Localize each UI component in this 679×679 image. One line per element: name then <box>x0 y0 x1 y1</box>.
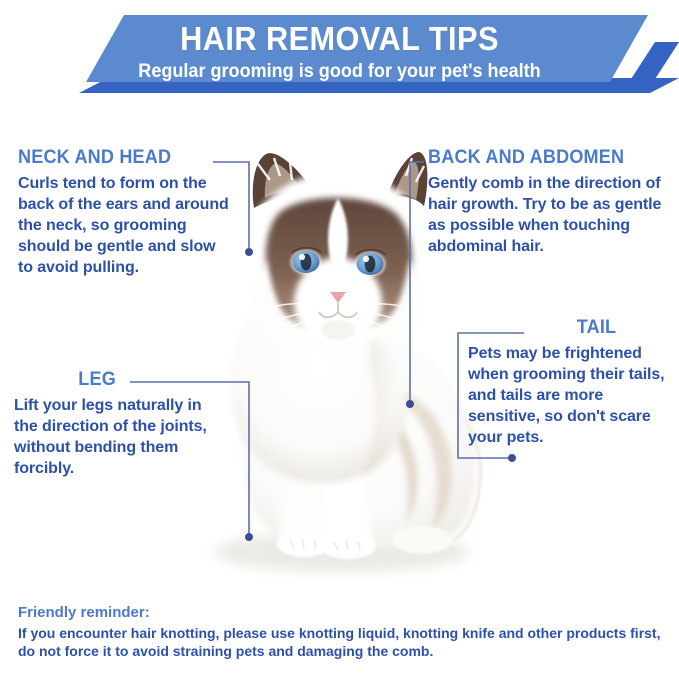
section-back-and-abdomen-heading: BACK AND ABDOMEN <box>428 148 666 167</box>
section-neck-and-head: NECK AND HEAD Curls tend to form on the … <box>18 148 233 279</box>
footer-body: If you encounter hair knotting, please u… <box>18 624 663 661</box>
header-banner: HAIR REMOVAL TIPS Regular grooming is go… <box>0 0 679 100</box>
section-tail-heading: TAIL <box>530 318 663 337</box>
cat-head <box>242 152 434 346</box>
section-back-and-abdomen-body: Gently comb in the direction of hair gro… <box>428 173 678 257</box>
section-back-and-abdomen: BACK AND ABDOMEN Gently comb in the dire… <box>428 148 678 257</box>
section-neck-and-head-body: Curls tend to form on the back of the ea… <box>18 173 233 279</box>
section-tail-body: Pets may be frightened when grooming the… <box>468 343 673 449</box>
footer-note: Friendly reminder: If you encounter hair… <box>18 604 663 661</box>
page-title: HAIR REMOVAL TIPS <box>24 22 655 55</box>
section-neck-and-head-heading: NECK AND HEAD <box>18 148 222 167</box>
section-leg: LEG Lift your legs naturally in the dire… <box>14 370 229 479</box>
cat-rear-paw <box>392 526 452 554</box>
section-leg-body: Lift your legs naturally in the directio… <box>14 395 229 479</box>
section-tail: TAIL Pets may be frightened when groomin… <box>468 318 673 449</box>
section-leg-heading: LEG <box>14 370 180 389</box>
page-subtitle: Regular grooming is good for your pet's … <box>17 62 662 81</box>
footer-title: Friendly reminder: <box>18 604 663 622</box>
